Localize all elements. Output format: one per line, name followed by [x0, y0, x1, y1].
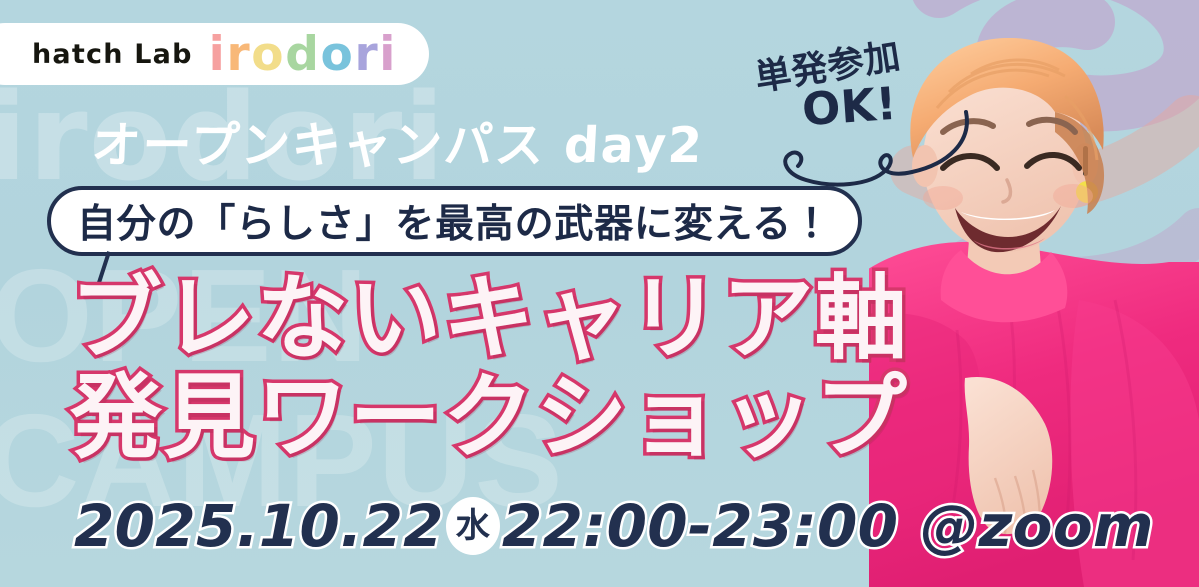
main-headline: ブレないキャリア軸 発見ワークショップ: [70, 272, 908, 466]
irodori-letter-6: i: [379, 31, 397, 78]
catchphrase-text: 自分の「らしさ」を最高の武器に変える！: [77, 193, 832, 249]
irodori-letter-5: r: [354, 31, 379, 78]
irodori-letter-1: r: [226, 31, 251, 78]
irodori-letter-4: o: [321, 31, 355, 78]
event-subtitle: オープンキャンパス day2: [90, 106, 706, 177]
schedule-time: 22:00-23:00: [502, 497, 899, 555]
headline-line-1: ブレないキャリア軸: [70, 272, 908, 367]
headline-line-2: 発見ワークショップ: [70, 371, 908, 466]
promo-banner: irodori OPEN CAMPUS: [0, 0, 1199, 587]
day-of-week-badge: 水: [446, 497, 500, 555]
day-of-week-label: 水: [456, 509, 490, 543]
irodori-letter-2: o: [251, 31, 285, 78]
catchphrase-pill: 自分の「らしさ」を最高の武器に変える！: [47, 186, 862, 256]
irodori-letter-3: d: [285, 31, 320, 78]
schedule-line: 2025.10.22 水 22:00-23:00 @zoom: [74, 497, 1154, 555]
brand-logo-pill[interactable]: hatch Lab irodori: [0, 23, 429, 85]
schedule-platform: @zoom: [920, 497, 1153, 555]
hatch-lab-label: hatch Lab: [32, 39, 193, 70]
irodori-letter-0: i: [209, 31, 227, 78]
schedule-date: 2025.10.22: [74, 497, 444, 555]
irodori-wordmark: irodori: [209, 31, 397, 78]
